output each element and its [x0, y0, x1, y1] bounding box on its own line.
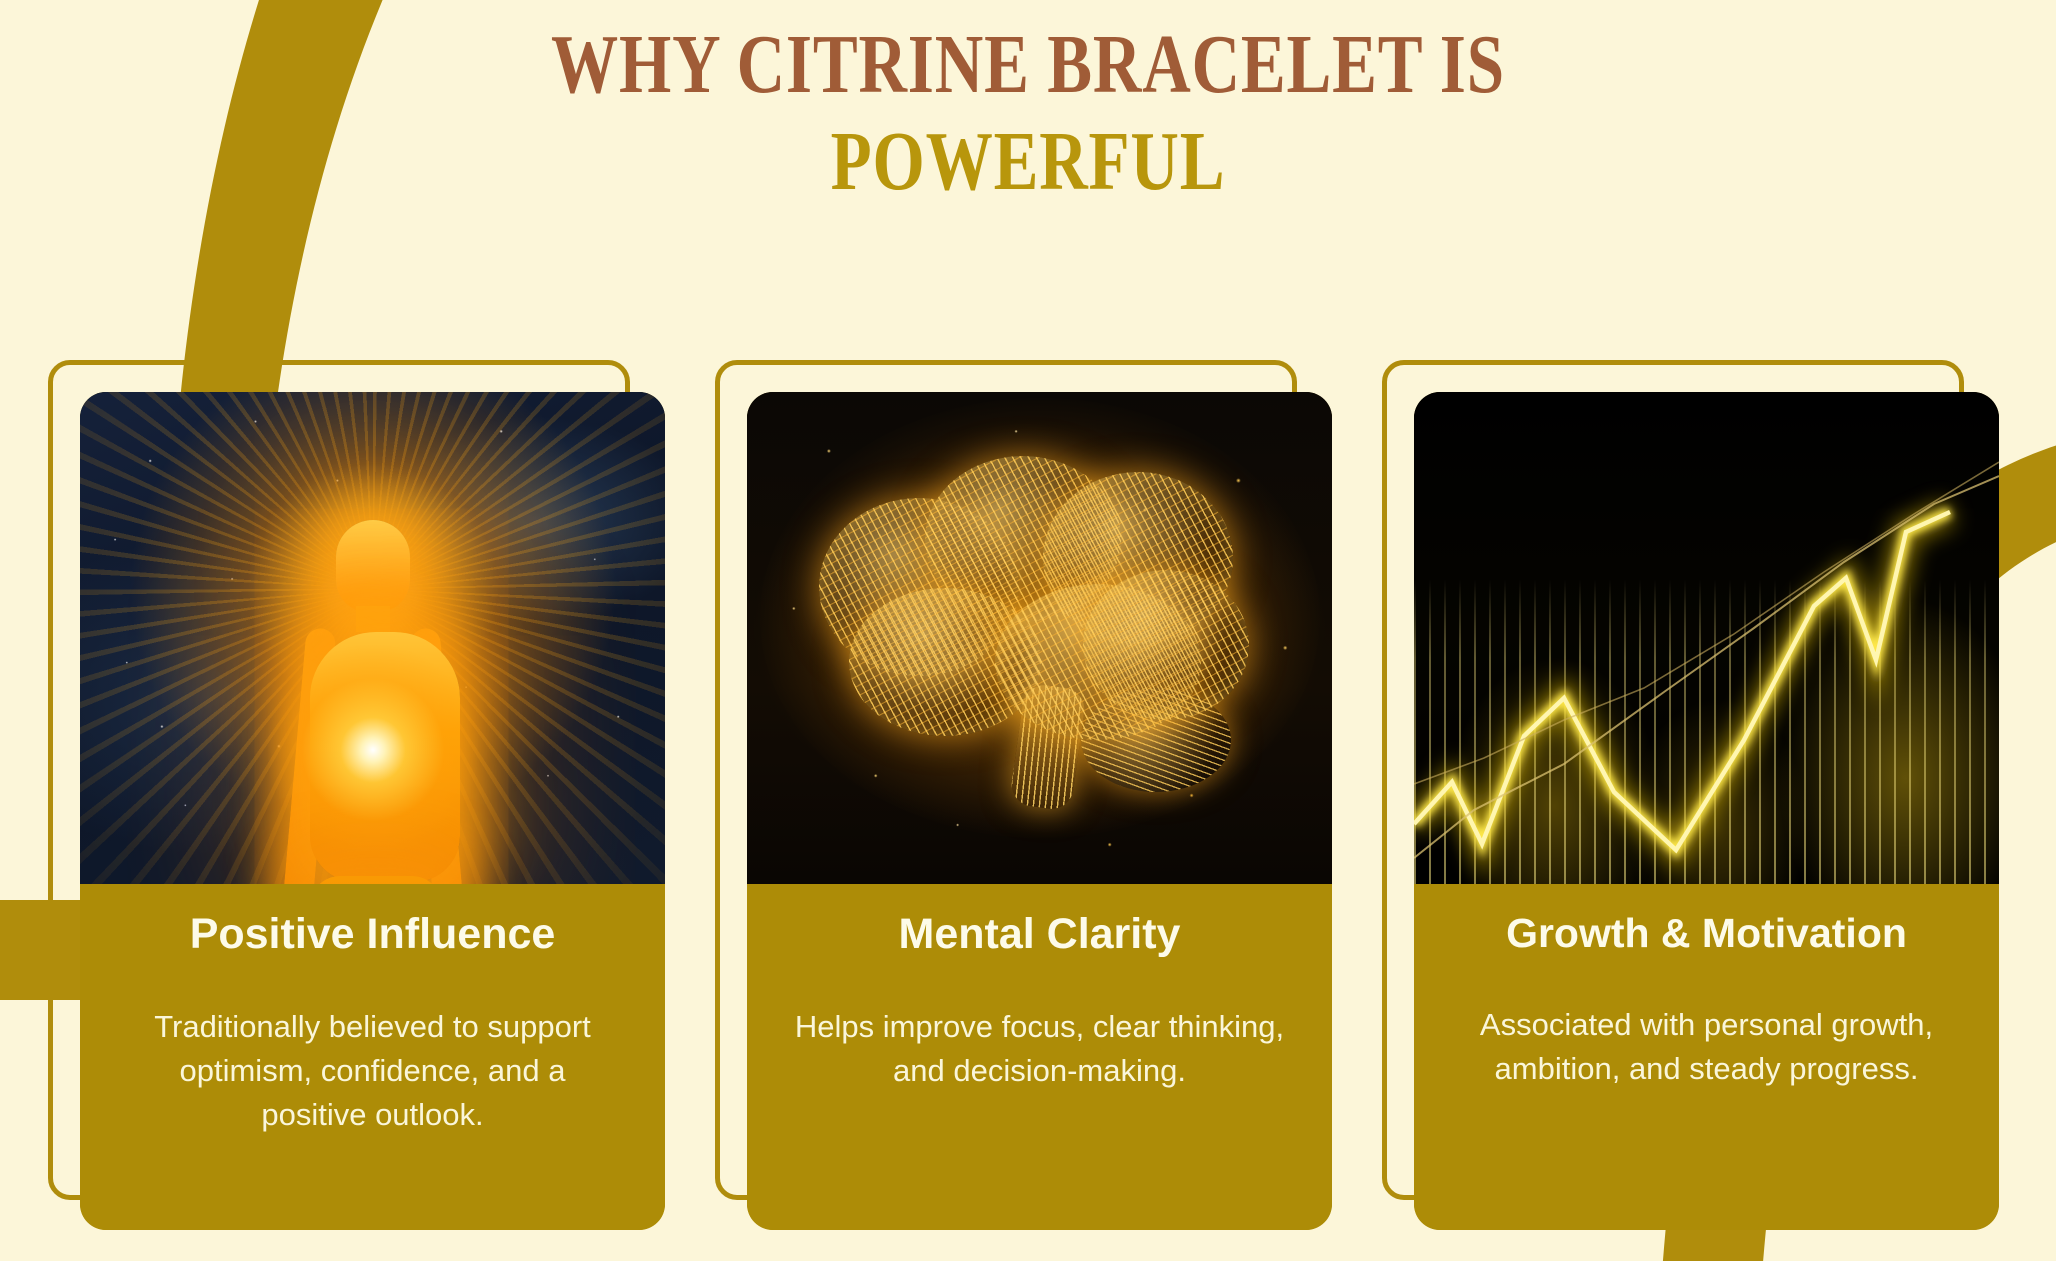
card-description: Associated with personal growth, ambitio…	[1460, 1003, 1953, 1091]
card-description: Helps improve focus, clear thinking, and…	[793, 1005, 1286, 1093]
card-surface: Mental Clarity Helps improve focus, clea…	[747, 392, 1332, 1230]
card-text-panel: Positive Influence Traditionally believe…	[80, 884, 665, 1230]
figure-legs	[310, 876, 442, 884]
chart-lines-icon	[1414, 392, 1999, 884]
card-grid: Positive Influence Traditionally believe…	[0, 0, 2056, 1261]
card-growth-motivation[interactable]: Growth & Motivation Associated with pers…	[1382, 360, 1982, 1230]
heart-light-burst-icon	[268, 645, 478, 855]
brain-icon	[805, 438, 1275, 798]
card-image-golden-wireframe-brain	[747, 392, 1332, 884]
card-text-panel: Growth & Motivation Associated with pers…	[1414, 884, 1999, 1230]
card-title: Growth & Motivation	[1460, 910, 1953, 957]
card-mental-clarity[interactable]: Mental Clarity Helps improve focus, clea…	[715, 360, 1315, 1230]
card-title: Mental Clarity	[793, 910, 1286, 959]
brain-lobe	[1083, 570, 1249, 720]
infographic-canvas: WHY CITRINE BRACELET IS POWERFUL	[0, 0, 2056, 1261]
card-description: Traditionally believed to support optimi…	[126, 1005, 619, 1137]
figure-head	[336, 520, 410, 612]
card-surface: Growth & Motivation Associated with pers…	[1414, 392, 1999, 1230]
figure-neck	[356, 606, 390, 632]
card-positive-influence[interactable]: Positive Influence Traditionally believe…	[48, 360, 648, 1230]
card-title: Positive Influence	[126, 910, 619, 959]
card-image-glowing-human-figure-in-starfield	[80, 392, 665, 884]
card-text-panel: Mental Clarity Helps improve focus, clea…	[747, 884, 1332, 1230]
card-image-rising-neon-growth-chart	[1414, 392, 1999, 884]
card-surface: Positive Influence Traditionally believe…	[80, 392, 665, 1230]
